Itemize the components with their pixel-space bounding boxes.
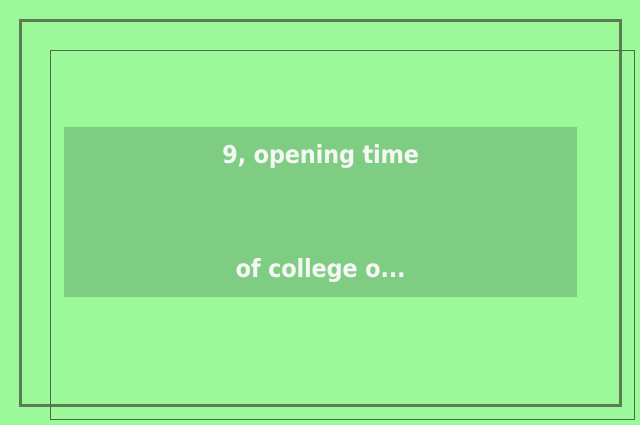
content-card[interactable]: 9, opening time of college o...: [64, 127, 577, 297]
page-root: 9, opening time of college o...: [0, 0, 640, 425]
card-text-line-1: 9, opening time: [222, 136, 419, 174]
card-text-line-2: of college o...: [222, 250, 419, 288]
card-text-block: 9, opening time of college o...: [222, 60, 419, 364]
